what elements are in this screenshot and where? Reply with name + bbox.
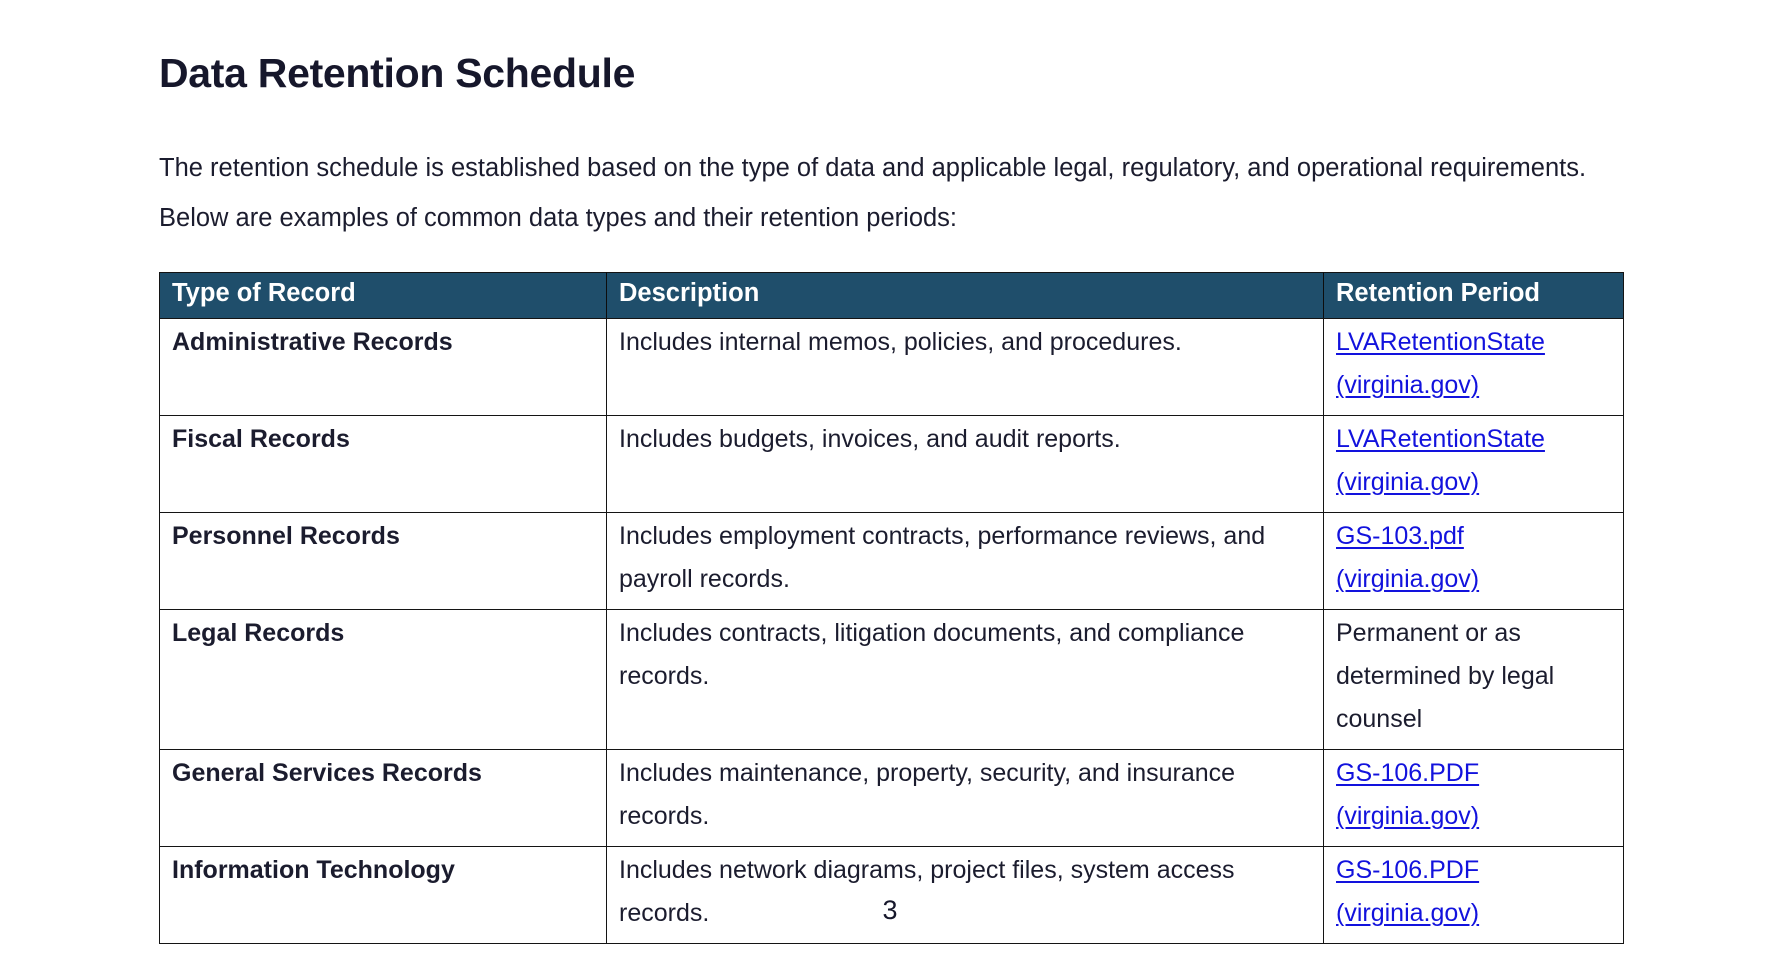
data-retention-table: Type of Record Description Retention Per… [159, 272, 1624, 944]
column-header-type-of-record: Type of Record [160, 273, 607, 319]
page-title: Data Retention Schedule [159, 49, 635, 98]
cell-description: Includes contracts, litigation documents… [607, 609, 1324, 749]
retention-link[interactable]: LVARetentionState (virginia.gov) [1336, 328, 1545, 399]
cell-type-of-record: Personnel Records [160, 512, 607, 609]
column-header-retention-period: Retention Period [1324, 273, 1624, 319]
page-number: 3 [0, 895, 1780, 926]
cell-type-of-record: General Services Records [160, 749, 607, 846]
table-row: Personnel Records Includes employment co… [160, 512, 1624, 609]
table-header-row: Type of Record Description Retention Per… [160, 273, 1624, 319]
cell-retention-period: Permanent or as determined by legal coun… [1324, 609, 1624, 749]
cell-type-of-record: Administrative Records [160, 318, 607, 415]
column-header-description: Description [607, 273, 1324, 319]
table-row: General Services Records Includes mainte… [160, 749, 1624, 846]
retention-link[interactable]: LVARetentionState (virginia.gov) [1336, 425, 1545, 496]
intro-paragraph: The retention schedule is established ba… [159, 143, 1609, 243]
cell-description: Includes internal memos, policies, and p… [607, 318, 1324, 415]
retention-link[interactable]: GS-106.PDF (virginia.gov) [1336, 759, 1479, 830]
table-row: Administrative Records Includes internal… [160, 318, 1624, 415]
cell-retention-period: LVARetentionState (virginia.gov) [1324, 415, 1624, 512]
cell-description: Includes employment contracts, performan… [607, 512, 1324, 609]
retention-link[interactable]: GS-103.pdf (virginia.gov) [1336, 522, 1479, 593]
cell-type-of-record: Fiscal Records [160, 415, 607, 512]
cell-type-of-record: Legal Records [160, 609, 607, 749]
cell-description: Includes budgets, invoices, and audit re… [607, 415, 1324, 512]
table-row: Fiscal Records Includes budgets, invoice… [160, 415, 1624, 512]
table-row: Legal Records Includes contracts, litiga… [160, 609, 1624, 749]
document-page: Data Retention Schedule The retention sc… [0, 0, 1780, 972]
cell-retention-period: LVARetentionState (virginia.gov) [1324, 318, 1624, 415]
cell-retention-period: GS-106.PDF (virginia.gov) [1324, 749, 1624, 846]
cell-retention-period: GS-103.pdf (virginia.gov) [1324, 512, 1624, 609]
cell-description: Includes maintenance, property, security… [607, 749, 1324, 846]
table-body: Administrative Records Includes internal… [160, 318, 1624, 943]
